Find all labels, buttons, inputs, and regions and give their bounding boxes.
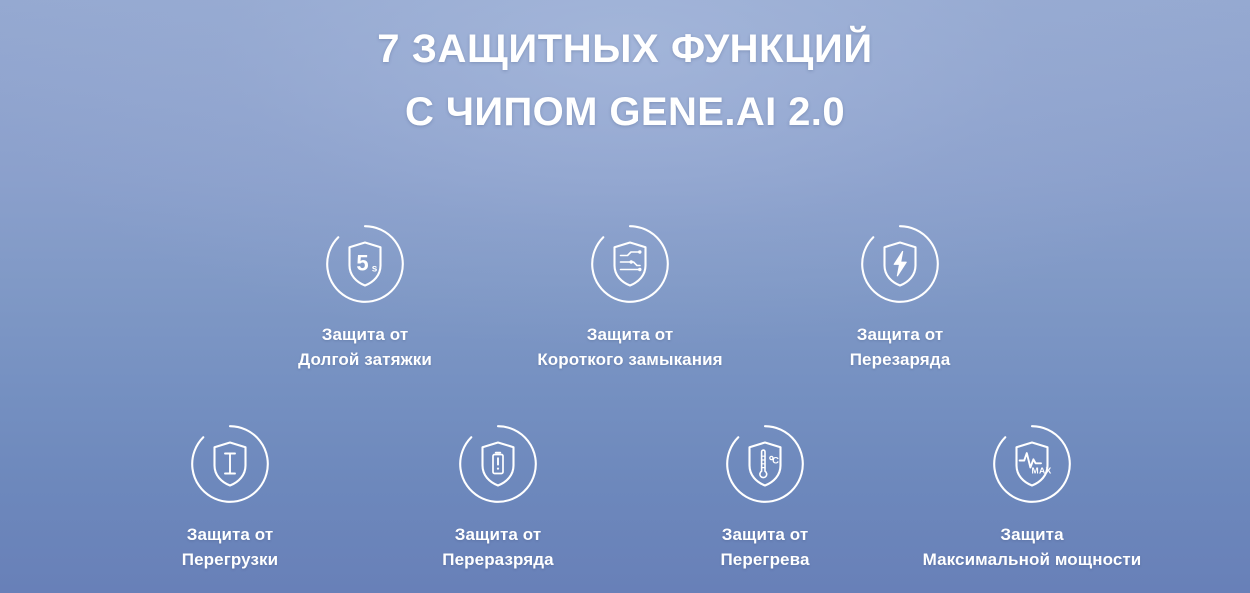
feature-label: Защита от Перезаряда (750, 322, 1050, 372)
feature-label-line-2: Переразряда (348, 547, 648, 572)
feature-long-puff: 5 s Защита от Долгой затяжки (215, 222, 515, 372)
features-grid: 5 s Защита от Долгой затяжки (0, 0, 1250, 593)
feature-max-power: MAX Защита Максимальной мощности (882, 422, 1182, 572)
feature-label: Защита от Перегрузки (80, 522, 380, 572)
feature-over-discharge: Защита от Переразряда (348, 422, 648, 572)
feature-label-line-1: Защита от (750, 322, 1050, 347)
feature-short-circuit: Защита от Короткого замыкания (480, 222, 780, 372)
feature-label-line-2: Долгой затяжки (215, 347, 515, 372)
feature-overload: Защита от Перегрузки (80, 422, 380, 572)
shield-thermometer-icon: C (723, 422, 807, 506)
feature-label: Защита от Короткого замыкания (480, 322, 780, 372)
svg-text:5: 5 (356, 251, 368, 276)
feature-label-line-2: Перезаряда (750, 347, 1050, 372)
shield-battery-icon (456, 422, 540, 506)
feature-label-line-1: Защита от (80, 522, 380, 547)
feature-label-line-1: Защита от (480, 322, 780, 347)
feature-label-line-1: Защита от (348, 522, 648, 547)
feature-label: Защита от Перегрева (615, 522, 915, 572)
svg-text:C: C (772, 455, 779, 466)
feature-label-line-1: Защита от (615, 522, 915, 547)
feature-label: Защита от Долгой затяжки (215, 322, 515, 372)
svg-text:MAX: MAX (1032, 466, 1052, 476)
shield-circuit-icon (588, 222, 672, 306)
feature-label-line-2: Перегрева (615, 547, 915, 572)
feature-label-line-1: Защита (882, 522, 1182, 547)
feature-label-line-2: Короткого замыкания (480, 347, 780, 372)
feature-label: Защита Максимальной мощности (882, 522, 1182, 572)
shield-5s-icon: 5 s (323, 222, 407, 306)
feature-label-line-1: Защита от (215, 322, 515, 347)
shield-current-icon (188, 422, 272, 506)
feature-label-line-2: Перегрузки (80, 547, 380, 572)
feature-label: Защита от Переразряда (348, 522, 648, 572)
feature-label-line-2: Максимальной мощности (882, 547, 1182, 572)
svg-text:s: s (372, 264, 378, 275)
shield-bolt-icon (858, 222, 942, 306)
feature-overheat: C Защита от Перегрева (615, 422, 915, 572)
feature-overcharge: Защита от Перезаряда (750, 222, 1050, 372)
protection-features-banner: 7 ЗАЩИТНЫХ ФУНКЦИЙ С ЧИПОМ GENE.AI 2.0 5… (0, 0, 1250, 593)
shield-pulse-max-icon: MAX (990, 422, 1074, 506)
